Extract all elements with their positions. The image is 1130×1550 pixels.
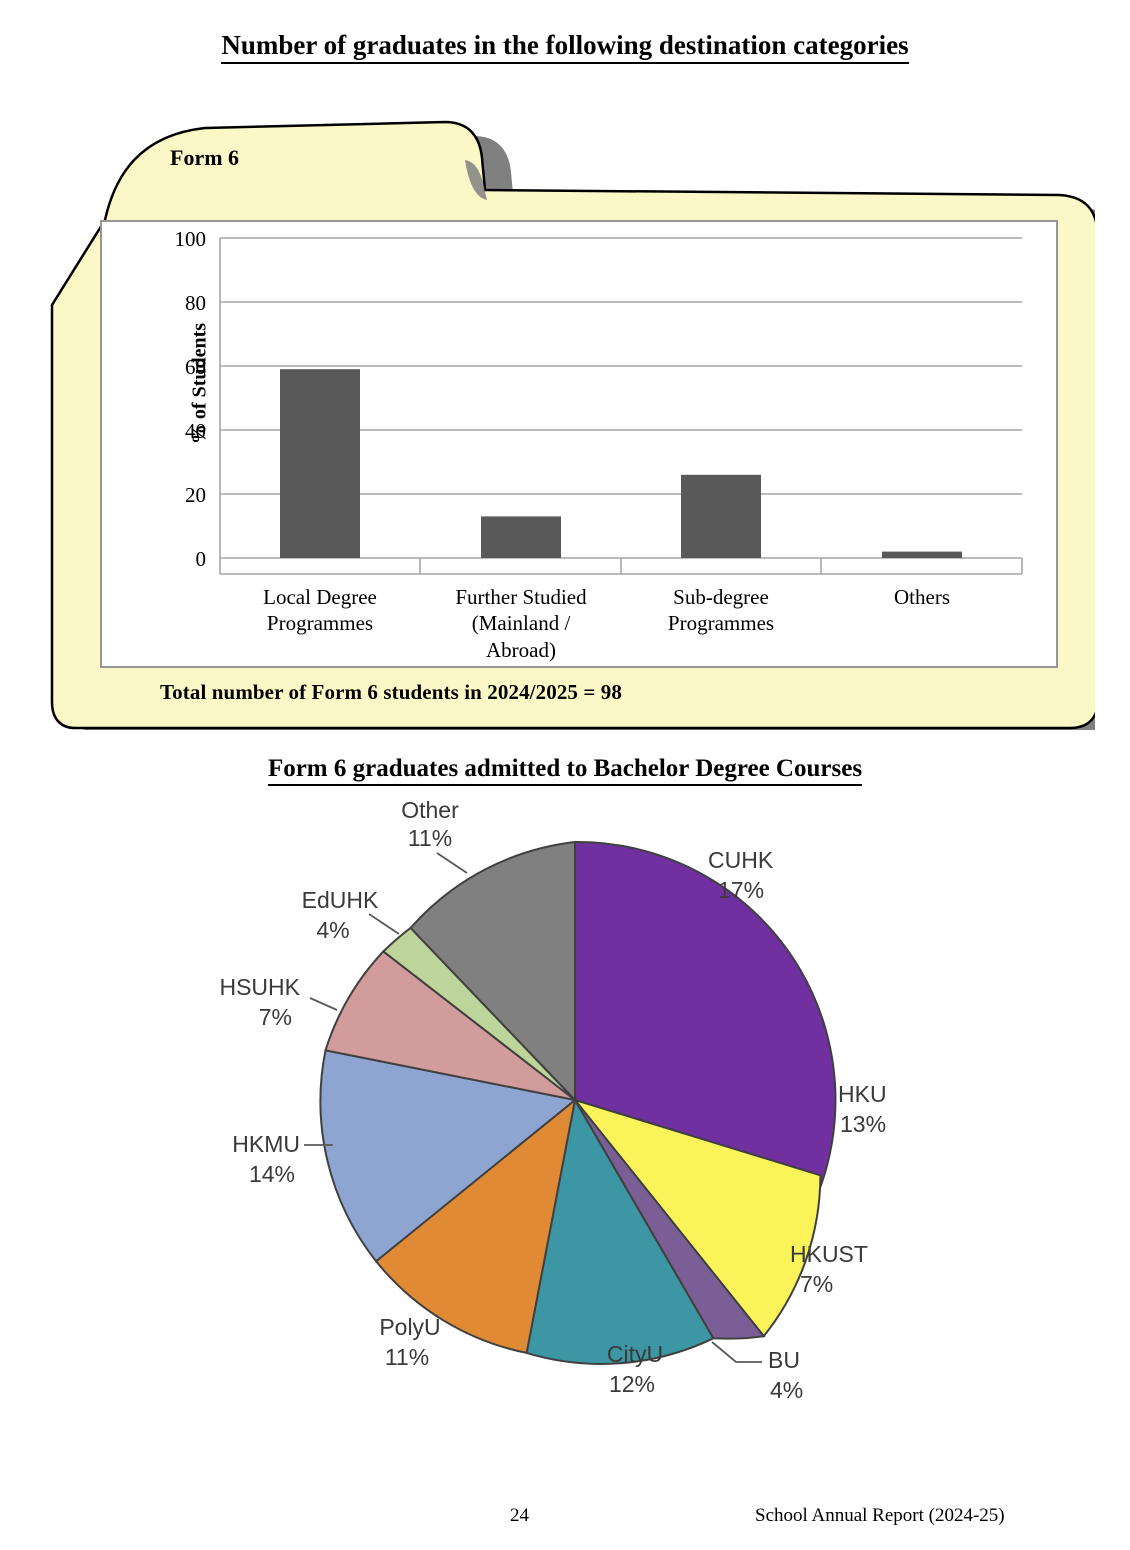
x-tick-line-3: Abroad) xyxy=(431,637,611,663)
pie-chart-title: Form 6 graduates admitted to Bachelor De… xyxy=(0,755,1130,783)
y-tick-label-100: 100 xyxy=(146,227,206,252)
x-tick-line-1: Sub-degree xyxy=(631,584,811,610)
pie-label-other-name: Other xyxy=(401,797,459,823)
pie-label-polyu-value: 11% xyxy=(385,1344,429,1370)
x-tick-line-1: Local Degree xyxy=(230,584,410,610)
folder-total-text: Total number of Form 6 students in 2024/… xyxy=(160,680,622,705)
pie-chart-title-text: Form 6 graduates admitted to Bachelor De… xyxy=(268,755,862,786)
leader-line-hsuhk xyxy=(310,998,337,1010)
pie-label-cityu-value: 12% xyxy=(609,1371,655,1397)
pie-label-hku-value: 13% xyxy=(840,1111,886,1137)
x-tick-line-1: Others xyxy=(832,584,1012,610)
page-title-text: Number of graduates in the following des… xyxy=(221,30,908,64)
pie-label-hkust-name: HKUST xyxy=(790,1241,868,1267)
pie-label-hkmu-name: HKMU xyxy=(232,1131,300,1157)
bar-sub-degree-programmes xyxy=(681,475,761,558)
footer-page-number: 24 xyxy=(510,1505,529,1527)
pie-label-hsuhk-value: 7% xyxy=(259,1004,292,1030)
y-tick-label-60: 60 xyxy=(146,355,206,380)
x-tick-label-local-degree-programmes: Local Degree Programmes xyxy=(230,584,410,637)
folder-tab-label: Form 6 xyxy=(170,145,239,171)
pie-label-polyu-name: PolyU xyxy=(379,1314,440,1340)
bar-further-studied xyxy=(481,516,561,558)
footer-report-label: School Annual Report (2024-25) xyxy=(755,1505,1005,1527)
x-tick-line-2: Programmes xyxy=(230,610,410,636)
leader-line-other xyxy=(437,853,467,873)
x-tick-line-1: Further Studied xyxy=(431,584,611,610)
y-tick-label-0: 0 xyxy=(146,547,206,572)
pie-label-hkmu-value: 14% xyxy=(249,1161,295,1187)
x-tick-label-others: Others xyxy=(832,584,1012,610)
bar-local-degree-programmes xyxy=(280,369,360,558)
pie-label-hsuhk-name: HSUHK xyxy=(219,974,300,1000)
pie-label-eduhk-name: EdUHK xyxy=(302,887,379,913)
y-tick-label-40: 40 xyxy=(146,419,206,444)
pie-label-cityu-name: CityU xyxy=(607,1341,663,1367)
pie-chart-svg: Other 11% EdUHK 4% HSUHK 7% HKMU 14% Pol… xyxy=(0,790,1130,1430)
bar-chart-container: % of Students 100 80 60 40 20 0 Local De… xyxy=(100,220,1058,668)
pie-label-hku-name: HKU xyxy=(838,1081,887,1107)
pie-label-cuhk-value: 17% xyxy=(718,877,764,903)
pie-label-other-value: 11% xyxy=(408,825,452,851)
pie-label-hkust-value: 7% xyxy=(800,1271,833,1297)
y-tick-label-20: 20 xyxy=(146,483,206,508)
page-title: Number of graduates in the following des… xyxy=(0,30,1130,61)
leader-line-bu xyxy=(712,1342,762,1362)
pie-slices xyxy=(320,842,835,1364)
x-tick-line-2: Programmes xyxy=(631,610,811,636)
pie-label-bu-value: 4% xyxy=(770,1377,803,1403)
x-tick-line-2: (Mainland / xyxy=(431,610,611,636)
pie-label-eduhk-value: 4% xyxy=(316,917,349,943)
bar-others xyxy=(882,552,962,558)
leader-line-eduhk xyxy=(369,914,399,934)
x-tick-label-sub-degree-programmes: Sub-degree Programmes xyxy=(631,584,811,637)
x-tick-label-further-studied: Further Studied (Mainland / Abroad) xyxy=(431,584,611,663)
form6-folder-panel: Form 6 % o xyxy=(45,100,1095,730)
y-tick-label-80: 80 xyxy=(146,291,206,316)
pie-label-bu-name: BU xyxy=(768,1347,800,1373)
pie-chart-container: Other 11% EdUHK 4% HSUHK 7% HKMU 14% Pol… xyxy=(0,790,1130,1430)
pie-label-cuhk-name: CUHK xyxy=(708,847,774,873)
